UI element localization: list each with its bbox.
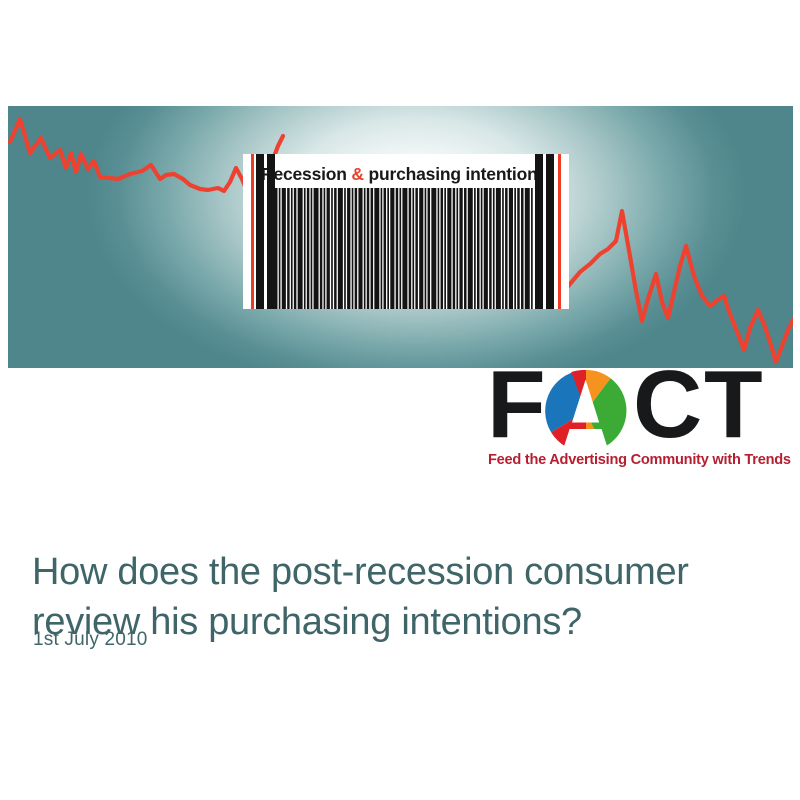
barcode-bar xyxy=(355,188,357,309)
logo-letter-t: T xyxy=(704,362,761,447)
logo-letter-c: C xyxy=(633,362,700,447)
barcode-bar xyxy=(474,188,476,309)
barcode-bar xyxy=(431,188,436,309)
barcode-bar xyxy=(412,188,414,309)
barcode-bar xyxy=(331,188,333,309)
barcode-bar xyxy=(493,188,495,309)
title-slide: Recession & purchasing intention F xyxy=(0,0,800,800)
barcode-bar xyxy=(444,188,446,309)
logo-letter-f: F xyxy=(487,362,544,447)
barcode-bar xyxy=(464,188,466,309)
barcode-bar xyxy=(327,188,330,309)
barcode-bar xyxy=(282,188,286,309)
barcode-guard-bar-2 xyxy=(267,154,275,309)
barcode-bar xyxy=(409,188,411,309)
barcode-bar xyxy=(396,188,398,309)
barcode-bar xyxy=(367,188,369,309)
barcode-bar xyxy=(320,188,322,309)
barcode-rail-left xyxy=(251,154,254,309)
barcode-bar xyxy=(352,188,354,309)
barcode-bar xyxy=(521,188,523,309)
fact-logo: F C T xyxy=(487,368,795,480)
barcode-bar xyxy=(287,188,289,309)
barcode-bar xyxy=(387,188,389,309)
barcode-bar xyxy=(399,188,401,309)
barcode-bar xyxy=(425,188,427,309)
fact-wordmark: F C T xyxy=(487,368,795,453)
barcode-graphic: Recession & purchasing intention xyxy=(243,154,569,309)
barcode-bar xyxy=(477,188,479,309)
barcode-title-ampersand: & xyxy=(351,164,363,184)
barcode-bar xyxy=(347,188,350,309)
barcode-bar xyxy=(419,188,423,309)
barcode-title-suffix: purchasing intention xyxy=(364,164,538,184)
barcode-guard-bar-1 xyxy=(256,154,264,309)
barcode-bar xyxy=(438,188,440,309)
barcode-bar xyxy=(531,188,533,309)
barcode-bar xyxy=(517,188,519,309)
barcode-bar xyxy=(311,188,313,309)
letter-a-knockout xyxy=(545,370,627,452)
barcode-bar xyxy=(371,188,373,309)
recession-banner-image: Recession & purchasing intention xyxy=(8,106,793,368)
barcode-bar xyxy=(275,188,277,309)
barcode-bar xyxy=(279,188,281,309)
barcode-bar xyxy=(344,188,346,309)
barcode-bar xyxy=(459,188,462,309)
barcode-bar xyxy=(358,188,362,309)
barcode-bar xyxy=(304,188,306,309)
barcode-bar xyxy=(390,188,394,309)
barcode-bar xyxy=(428,188,430,309)
barcode-bar xyxy=(384,188,386,309)
barcode-bar xyxy=(298,188,303,309)
barcode-bar xyxy=(374,188,379,309)
barcode-bar xyxy=(338,188,343,309)
barcode-bar xyxy=(324,188,326,309)
barcode-bar xyxy=(381,188,383,309)
barcode-bar xyxy=(514,188,516,309)
logo-tagline: Feed the Advertising Community with Tren… xyxy=(488,452,794,468)
barcode-bar xyxy=(468,188,473,309)
barcode-rail-right xyxy=(558,154,561,309)
barcode-bar xyxy=(415,188,417,309)
slide-date: 1st July 2010 xyxy=(33,629,148,651)
barcode-bar xyxy=(489,188,491,309)
barcode-bar xyxy=(502,188,504,309)
barcode-bar xyxy=(509,188,513,309)
barcode-guard-bar-3 xyxy=(535,154,543,309)
barcode-bar xyxy=(505,188,507,309)
barcode-bars xyxy=(243,188,569,309)
barcode-bar xyxy=(481,188,483,309)
trend-line-right xyxy=(560,211,793,362)
barcode-bar xyxy=(447,188,451,309)
barcode-bar xyxy=(364,188,366,309)
barcode-bar xyxy=(291,188,293,309)
barcode-bar xyxy=(453,188,455,309)
barcode-bar xyxy=(294,188,296,309)
barcode-bar xyxy=(496,188,501,309)
barcode-bar xyxy=(334,188,336,309)
barcode-guard-bar-4 xyxy=(546,154,554,309)
barcode-bar xyxy=(525,188,530,309)
barcode-title: Recession & purchasing intention xyxy=(261,164,557,188)
barcode-bar xyxy=(314,188,319,309)
barcode-bar xyxy=(484,188,488,309)
logo-letter-a-color-wheel xyxy=(545,370,627,452)
barcode-bar xyxy=(441,188,443,309)
barcode-bar xyxy=(456,188,458,309)
barcode-bar xyxy=(402,188,407,309)
barcode-bar xyxy=(307,188,309,309)
